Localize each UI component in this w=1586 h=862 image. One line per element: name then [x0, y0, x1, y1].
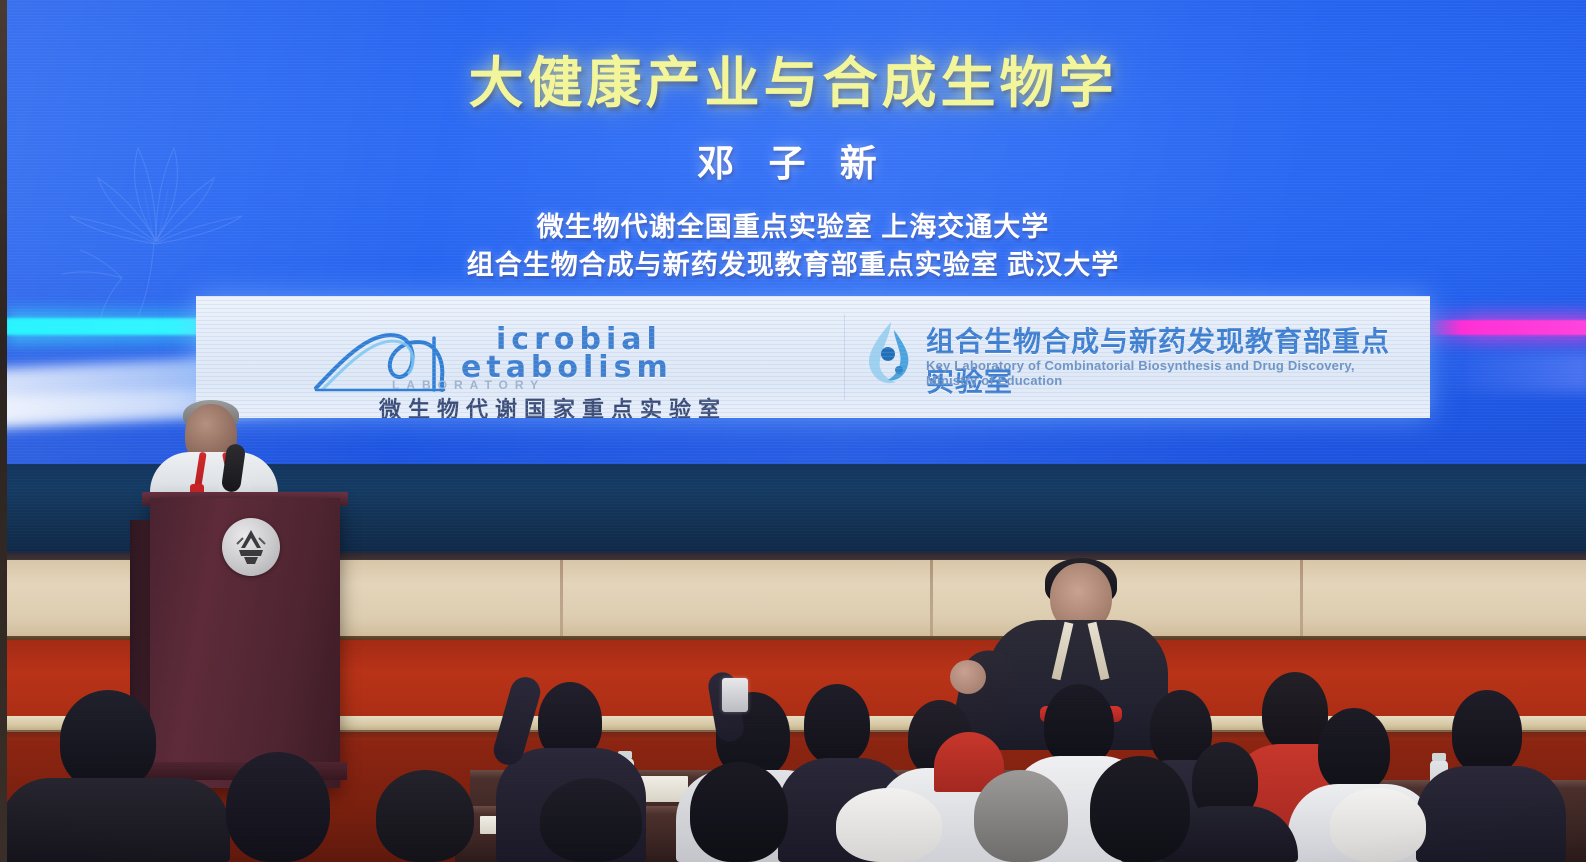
slide-title: 大健康产业与合成生物学 — [0, 38, 1586, 118]
audience-head-5 — [1044, 684, 1114, 766]
logo-bar-scanlines — [196, 296, 1430, 418]
magenta-light-streak — [1426, 320, 1586, 335]
podium-emblem-icon — [222, 518, 280, 576]
audience-head-9 — [1452, 690, 1522, 774]
audience-head-front-4 — [540, 778, 642, 862]
audience-head-front-7 — [974, 770, 1068, 862]
blue-light-streak-right — [1436, 352, 1586, 392]
audience-head-front-1 — [60, 690, 156, 790]
audience-head-front-5 — [690, 762, 788, 862]
slide-affiliation-2: 组合生物合成与新药发现教育部重点实验室 武汉大学 — [0, 243, 1586, 282]
slide-logo-bar: icrobial etabolism LABORATORY 微生物代谢国家重点实… — [196, 296, 1430, 418]
smartphone — [722, 678, 748, 712]
audience-head-3 — [804, 684, 870, 764]
standing-attendee-hand — [950, 660, 986, 694]
slide-affiliation-1: 微生物代谢全国重点实验室 上海交通大学 — [0, 205, 1586, 244]
audience-head-front-2 — [226, 752, 330, 862]
audience-head-front-8 — [1090, 756, 1190, 862]
audience-shoulders-front-1 — [0, 778, 230, 862]
audience-head-8 — [1318, 708, 1390, 792]
audience-head-front-9 — [1330, 788, 1426, 862]
audience-shoulders-9 — [1416, 766, 1566, 862]
slide-speaker-name: 邓 子 新 — [0, 133, 1586, 187]
left-frame-strip — [0, 0, 7, 862]
audience-head-front-3 — [376, 770, 474, 862]
conference-photo: 大健康产业与合成生物学 邓 子 新 微生物代谢全国重点实验室 上海交通大学 组合… — [0, 0, 1586, 862]
audience-head-front-6 — [836, 788, 942, 862]
